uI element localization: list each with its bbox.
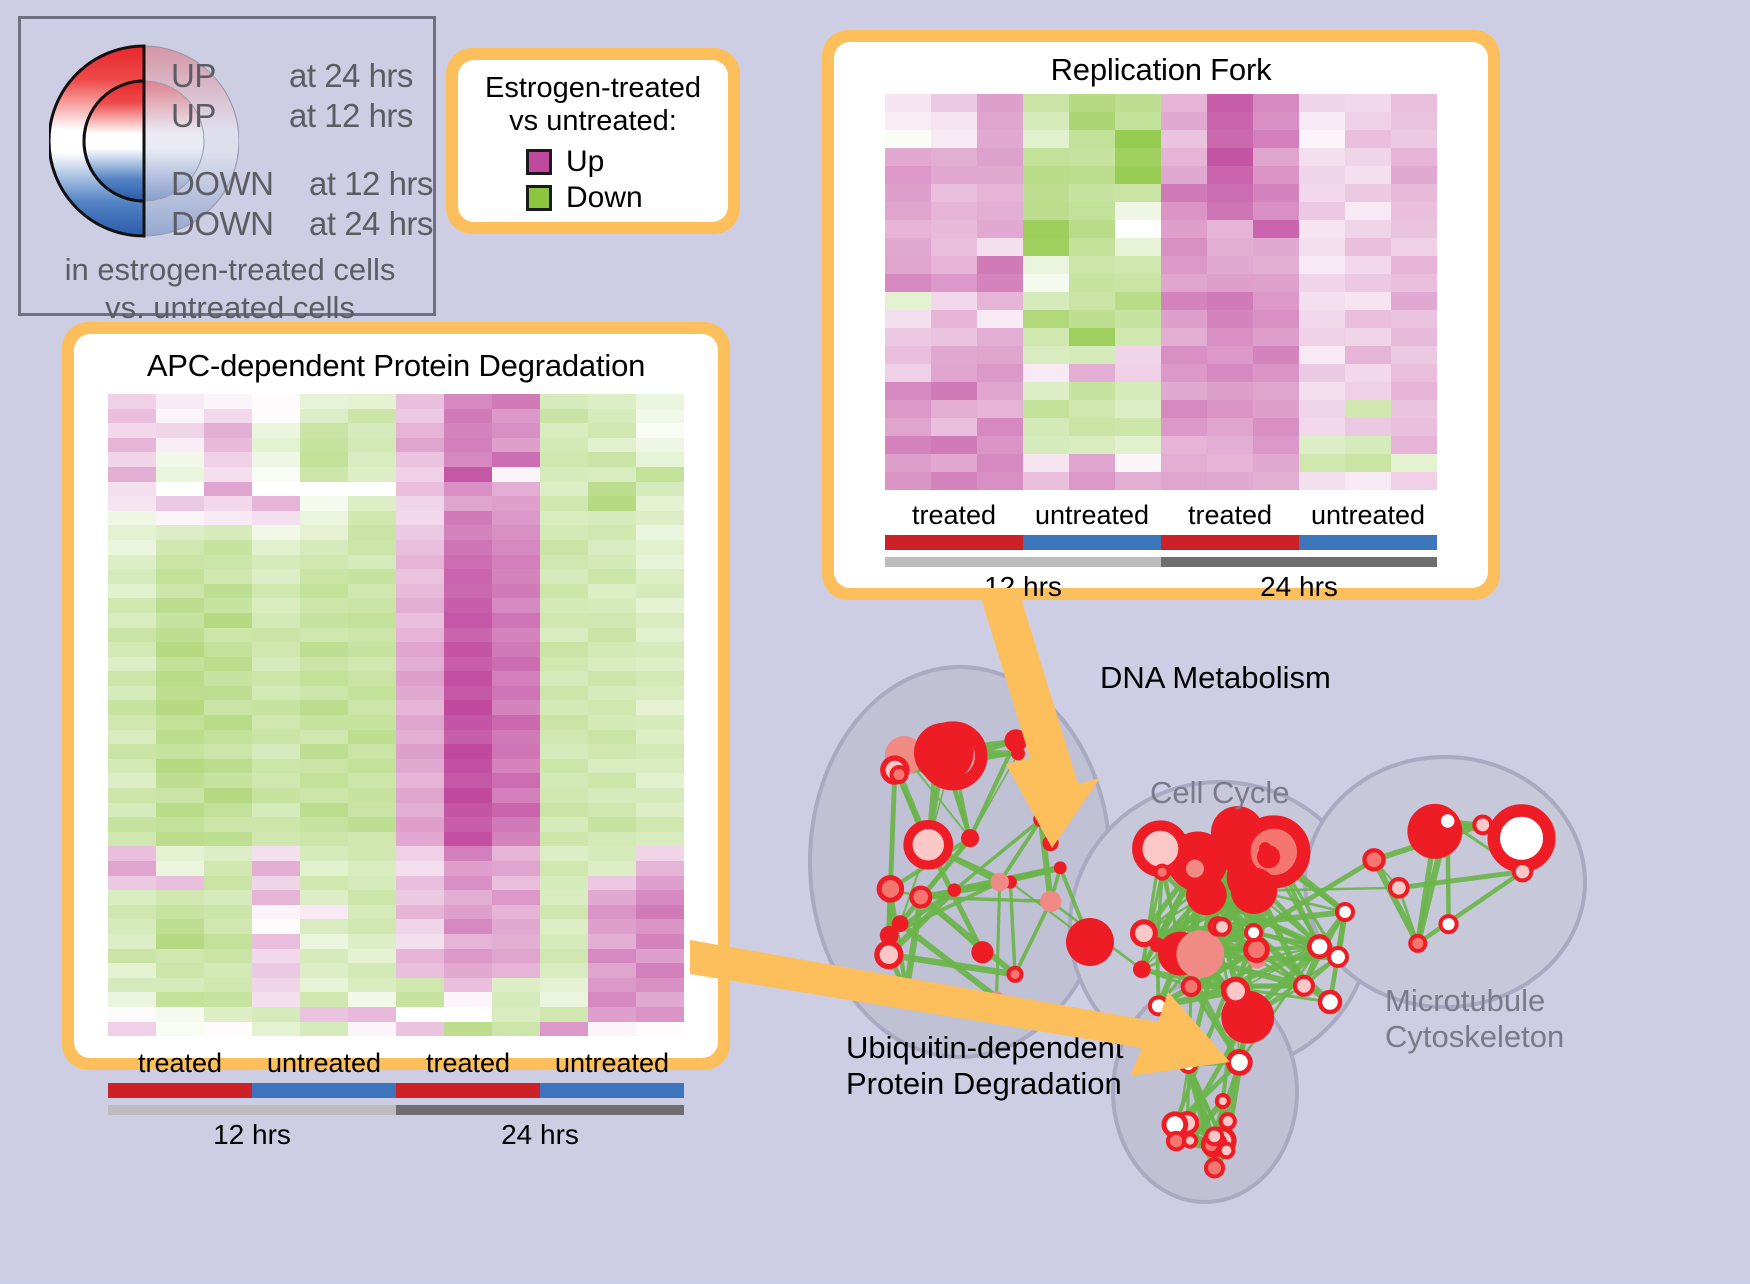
heatmap-cell	[204, 686, 252, 701]
heatmap-cell	[444, 438, 492, 453]
heatmap-cell	[492, 876, 540, 891]
heatmap-cell	[300, 496, 348, 511]
heatmap-cell	[348, 846, 396, 861]
heatmap-cell	[108, 919, 156, 934]
heatmap-cell	[300, 788, 348, 803]
heatmap-cell	[1345, 382, 1391, 400]
heatmap-cell	[204, 628, 252, 643]
heatmap-cell	[396, 628, 444, 643]
network-node[interactable]	[1320, 992, 1340, 1012]
network-node[interactable]	[1337, 904, 1353, 920]
heatmap-cell	[108, 730, 156, 745]
heatmap-cell	[588, 1022, 636, 1037]
heatmap-cell	[588, 978, 636, 993]
heatmap-cell	[156, 773, 204, 788]
heatmap-cell	[540, 978, 588, 993]
heatmap-cell	[396, 467, 444, 482]
heatmap-cell	[252, 759, 300, 774]
network-node[interactable]	[1168, 1133, 1184, 1149]
network-node[interactable]	[1410, 936, 1425, 951]
heatmap-cell	[1299, 328, 1345, 346]
heatmap-cell	[588, 846, 636, 861]
heatmap-cell	[300, 700, 348, 715]
network-node[interactable]	[1054, 861, 1067, 874]
heatmap-cell	[396, 671, 444, 686]
heatmap-cell	[588, 949, 636, 964]
heatmap-cell	[492, 686, 540, 701]
heatmap-cell	[636, 511, 684, 526]
heatmap-cell	[588, 409, 636, 424]
heatmap-cell	[444, 598, 492, 613]
heatmap-cell	[204, 817, 252, 832]
heatmap-cell	[977, 130, 1023, 148]
heatmap-cell	[1391, 328, 1437, 346]
heatmap-cell	[931, 454, 977, 472]
heatmap-cell	[348, 876, 396, 891]
heatmap-cell	[300, 861, 348, 876]
heatmap-cell	[1115, 418, 1161, 436]
network-node[interactable]	[911, 888, 930, 907]
heatmap-cell	[204, 452, 252, 467]
heatmap-cell	[444, 613, 492, 628]
heatmap-cell	[396, 525, 444, 540]
heatmap-cell	[636, 555, 684, 570]
condition-label-3: untreated	[1299, 500, 1437, 531]
network-node[interactable]	[1407, 804, 1462, 859]
heatmap-cell	[1253, 166, 1299, 184]
network-node[interactable]	[1440, 916, 1456, 932]
heatmap-cell	[156, 788, 204, 803]
heatmap-cell	[252, 934, 300, 949]
heatmap-cell	[636, 452, 684, 467]
heatmap-cell	[636, 978, 684, 993]
heatmap-cell	[444, 890, 492, 905]
heatmap-cell	[204, 569, 252, 584]
heatmap-cell	[252, 423, 300, 438]
heatmap-cell	[931, 238, 977, 256]
expression-ring-legend: UP at 24 hrs UP at 12 hrs DOWN at 12 hrs…	[18, 16, 436, 316]
heatmap-cell	[1299, 382, 1345, 400]
heatmap-cell	[156, 525, 204, 540]
heatmap-cell	[931, 130, 977, 148]
heatmap-cell	[636, 992, 684, 1007]
heatmap-cell	[1253, 220, 1299, 238]
heatmap-cell	[252, 613, 300, 628]
heatmap-cell	[1069, 256, 1115, 274]
network-node[interactable]	[948, 883, 962, 897]
heatmap-cell	[204, 642, 252, 657]
heatmap-cell	[1207, 292, 1253, 310]
heatmap-cell	[204, 1007, 252, 1022]
ring-label-up-12: UP	[171, 97, 216, 135]
heatmap-cell	[636, 715, 684, 730]
heatmap-cell	[300, 409, 348, 424]
heatmap-cell	[1023, 400, 1069, 418]
heatmap-cell	[348, 963, 396, 978]
heatmap-cell	[588, 963, 636, 978]
heatmap-cell	[1391, 130, 1437, 148]
color-legend-panel: Estrogen-treated vs untreated: Up Down	[446, 48, 740, 234]
heatmap-cell	[1207, 202, 1253, 220]
heatmap-cell	[492, 978, 540, 993]
heatmap-cell	[1299, 256, 1345, 274]
heatmap-cell	[492, 525, 540, 540]
heatmap-cell	[1115, 130, 1161, 148]
network-node[interactable]	[879, 878, 902, 901]
heatmap-cell	[885, 202, 931, 220]
heatmap-cell	[588, 934, 636, 949]
heatmap-cell	[1345, 274, 1391, 292]
heatmap-cell	[1299, 112, 1345, 130]
heatmap-cell	[1069, 112, 1115, 130]
heatmap-cell	[1253, 94, 1299, 112]
heatmap-cell	[1161, 274, 1207, 292]
heatmap-cell	[885, 148, 931, 166]
heatmap-cell	[636, 671, 684, 686]
network-node[interactable]	[990, 873, 1009, 892]
heatmap-cell	[108, 992, 156, 1007]
heatmap-cell	[540, 744, 588, 759]
heatmap-cell	[1023, 310, 1069, 328]
heatmap-cell	[636, 409, 684, 424]
heatmap-cell	[1161, 436, 1207, 454]
condition-label-2: treated	[1161, 500, 1299, 531]
heatmap-cell	[588, 876, 636, 891]
heatmap-cell	[108, 452, 156, 467]
heatmap-cell	[252, 963, 300, 978]
heatmap-cell	[636, 759, 684, 774]
heatmap-cell	[156, 540, 204, 555]
heatmap-cell	[300, 540, 348, 555]
heatmap-cell	[492, 949, 540, 964]
heatmap-cell	[252, 744, 300, 759]
heatmap-cell	[636, 628, 684, 643]
heatmap-cell	[156, 671, 204, 686]
heatmap-cell	[540, 934, 588, 949]
network-node[interactable]	[1206, 893, 1219, 906]
heatmap-cell	[444, 467, 492, 482]
heatmap-cell	[492, 1007, 540, 1022]
network-node[interactable]	[1295, 977, 1313, 995]
heatmap-cell	[636, 496, 684, 511]
network-node[interactable]	[1390, 879, 1408, 897]
heatmap-cell	[204, 555, 252, 570]
heatmap-cell	[588, 890, 636, 905]
heatmap-cell	[1253, 184, 1299, 202]
heatmap-cell	[1345, 202, 1391, 220]
heatmap-cell	[1023, 112, 1069, 130]
network-node[interactable]	[1220, 1144, 1234, 1158]
heatmap-cell	[156, 890, 204, 905]
heatmap-cell	[588, 861, 636, 876]
heatmap-cell	[348, 657, 396, 672]
heatmap-cell	[1345, 418, 1391, 436]
heatmap-cell	[444, 584, 492, 599]
heatmap-cell	[1253, 310, 1299, 328]
heatmap-cell	[1161, 112, 1207, 130]
legend-items: Up Down	[458, 144, 728, 216]
heatmap-cell	[300, 467, 348, 482]
heatmap-cell	[1023, 346, 1069, 364]
heatmap-cell	[444, 788, 492, 803]
heatmap-cell	[444, 525, 492, 540]
heatmap-cell	[540, 584, 588, 599]
network-node[interactable]	[1206, 1128, 1222, 1144]
heatmap-cell	[1253, 238, 1299, 256]
heatmap-cell	[492, 613, 540, 628]
heatmap-cell	[108, 496, 156, 511]
network-node[interactable]	[1156, 866, 1169, 879]
heatmap-cell	[300, 846, 348, 861]
heatmap-cell	[931, 112, 977, 130]
network-node[interactable]	[1439, 812, 1457, 830]
heatmap-cell	[300, 744, 348, 759]
heatmap-cell	[492, 934, 540, 949]
heatmap-cell	[636, 569, 684, 584]
heatmap-cell	[1023, 472, 1069, 490]
heatmap-cell	[1023, 274, 1069, 292]
heatmap-cell	[636, 657, 684, 672]
heatmap-cell	[1115, 94, 1161, 112]
heatmap-cell	[156, 700, 204, 715]
heatmap-cell	[108, 773, 156, 788]
heatmap-cell	[977, 346, 1023, 364]
heatmap-cell	[156, 876, 204, 891]
heatmap-cell	[348, 628, 396, 643]
network-node[interactable]	[1514, 863, 1531, 880]
heatmap-cell	[1299, 436, 1345, 454]
heatmap-cell	[977, 436, 1023, 454]
heatmap-cell	[204, 759, 252, 774]
network-node[interactable]	[1184, 1134, 1196, 1146]
heatmap-cell	[1391, 112, 1437, 130]
heatmap-cell	[931, 166, 977, 184]
cluster-label-cell-cycle: Cell Cycle	[1150, 775, 1290, 811]
replication-fork-heatmap	[885, 94, 1437, 490]
heatmap-cell	[636, 803, 684, 818]
heatmap-cell	[1391, 256, 1437, 274]
heatmap-cell	[931, 148, 977, 166]
heatmap-cell	[492, 773, 540, 788]
heatmap-cell	[300, 934, 348, 949]
heatmap-cell	[588, 555, 636, 570]
heatmap-cell	[492, 817, 540, 832]
network-node[interactable]	[1186, 860, 1204, 878]
heatmap-cell	[300, 773, 348, 788]
heatmap-cell	[1161, 328, 1207, 346]
network-node[interactable]	[1231, 868, 1277, 914]
heatmap-cell	[156, 992, 204, 1007]
heatmap-cell	[204, 438, 252, 453]
heatmap-cell	[1115, 400, 1161, 418]
heatmap-cell	[300, 394, 348, 409]
heatmap-cell	[1299, 220, 1345, 238]
heatmap-cell	[540, 817, 588, 832]
apc-degradation-panel: APC-dependent Protein Degradation treate…	[62, 322, 730, 1070]
ring-label-down-12: DOWN	[171, 165, 273, 203]
network-node[interactable]	[1364, 850, 1383, 869]
heatmap-cell	[1023, 292, 1069, 310]
heatmap-cell	[1115, 274, 1161, 292]
heatmap-cell	[588, 438, 636, 453]
timepoint-labels: 12 hrs 24 hrs	[108, 1119, 684, 1151]
heatmap-cell	[108, 803, 156, 818]
heatmap-cell	[540, 1007, 588, 1022]
heatmap-cell	[204, 905, 252, 920]
heatmap-cell	[492, 919, 540, 934]
heatmap-cell	[1391, 310, 1437, 328]
heatmap-cell	[348, 759, 396, 774]
network-node[interactable]	[1309, 936, 1329, 956]
heatmap-cell	[588, 657, 636, 672]
network-node[interactable]	[1257, 845, 1280, 868]
heatmap-cell	[1115, 472, 1161, 490]
network-node[interactable]	[1329, 948, 1347, 966]
heatmap-cell	[492, 423, 540, 438]
heatmap-cell	[492, 1022, 540, 1037]
heatmap-cell	[444, 817, 492, 832]
heatmap-cell	[931, 418, 977, 436]
heatmap-cell	[396, 555, 444, 570]
heatmap-cell	[396, 905, 444, 920]
network-node[interactable]	[931, 731, 944, 744]
heatmap-cell	[396, 949, 444, 964]
heatmap-cell	[348, 817, 396, 832]
heatmap-cell	[300, 890, 348, 905]
heatmap-cell	[1207, 112, 1253, 130]
heatmap-cell	[396, 584, 444, 599]
heatmap-cell	[252, 496, 300, 511]
heatmap-cell	[977, 238, 1023, 256]
network-node[interactable]	[1217, 1095, 1229, 1107]
heatmap-cell	[396, 642, 444, 657]
heatmap-cell	[252, 905, 300, 920]
heatmap-cell	[348, 1022, 396, 1037]
heatmap-cell	[396, 1022, 444, 1037]
heatmap-cell	[252, 452, 300, 467]
network-node[interactable]	[892, 767, 907, 782]
heatmap-cell	[348, 496, 396, 511]
heatmap-cell	[204, 978, 252, 993]
heatmap-cell	[636, 584, 684, 599]
heatmap-cell	[977, 292, 1023, 310]
heatmap-cell	[1069, 292, 1115, 310]
heatmap-cell	[252, 773, 300, 788]
heatmap-cell	[931, 202, 977, 220]
heatmap-cell	[588, 803, 636, 818]
network-node[interactable]	[1221, 1114, 1235, 1128]
heatmap-cell	[348, 467, 396, 482]
network-node[interactable]	[1186, 875, 1227, 916]
heatmap-cell	[108, 1022, 156, 1037]
heatmap-cell	[444, 832, 492, 847]
heatmap-cell	[108, 715, 156, 730]
heatmap-cell	[1345, 238, 1391, 256]
heatmap-cell	[444, 540, 492, 555]
heatmap-cell	[636, 934, 684, 949]
heatmap-cell	[396, 817, 444, 832]
time-label-24: 24 hrs	[1161, 571, 1437, 603]
heatmap-cell	[396, 598, 444, 613]
heatmap-cell	[252, 919, 300, 934]
heatmap-cell	[1023, 148, 1069, 166]
heatmap-cell	[300, 832, 348, 847]
heatmap-cell	[252, 817, 300, 832]
heatmap-cell	[156, 569, 204, 584]
network-node[interactable]	[908, 825, 948, 865]
heatmap-cell	[1345, 400, 1391, 418]
heatmap-cell	[540, 613, 588, 628]
heatmap-cell	[1161, 472, 1207, 490]
heatmap-cell	[108, 759, 156, 774]
heatmap-cell	[977, 310, 1023, 328]
heatmap-cell	[540, 963, 588, 978]
heatmap-cell	[156, 496, 204, 511]
heatmap-cell	[252, 1007, 300, 1022]
heatmap-cell	[1299, 292, 1345, 310]
heatmap-cell	[444, 423, 492, 438]
network-node[interactable]	[1224, 855, 1241, 872]
heatmap-cell	[108, 861, 156, 876]
heatmap-cell	[1023, 364, 1069, 382]
heatmap-cell	[348, 671, 396, 686]
heatmap-cell	[540, 715, 588, 730]
heatmap-cell	[636, 1022, 684, 1037]
heatmap-cell	[636, 642, 684, 657]
heatmap-cell	[885, 310, 931, 328]
heatmap-cell	[108, 482, 156, 497]
condition-label-2: treated	[396, 1048, 540, 1079]
heatmap-cell	[204, 496, 252, 511]
heatmap-cell	[1207, 364, 1253, 382]
heatmap-cell	[1069, 130, 1115, 148]
cluster-label-dna-metabolism: DNA Metabolism	[1100, 660, 1331, 696]
heatmap-cell	[1207, 400, 1253, 418]
heatmap-cell	[204, 803, 252, 818]
heatmap-cell	[1023, 184, 1069, 202]
heatmap-cell	[300, 949, 348, 964]
heatmap-cell	[204, 963, 252, 978]
network-node[interactable]	[1206, 1159, 1223, 1176]
heatmap-cell	[540, 919, 588, 934]
heatmap-cell	[348, 642, 396, 657]
heatmap-cell	[1161, 346, 1207, 364]
heatmap-cell	[1023, 220, 1069, 238]
heatmap-cell	[1253, 472, 1299, 490]
heatmap-cell	[396, 482, 444, 497]
heatmap-cell	[252, 642, 300, 657]
heatmap-cell	[1023, 418, 1069, 436]
heatmap-cell	[156, 919, 204, 934]
heatmap-cell	[204, 540, 252, 555]
heatmap-cell	[1299, 454, 1345, 472]
heatmap-cell	[108, 438, 156, 453]
network-node[interactable]	[1040, 891, 1061, 912]
heatmap-cell	[156, 846, 204, 861]
heatmap-cell	[588, 452, 636, 467]
heatmap-cell	[931, 220, 977, 238]
heatmap-cell	[977, 454, 1023, 472]
heatmap-cell	[252, 846, 300, 861]
heatmap-cell	[444, 700, 492, 715]
heatmap-cell	[1069, 436, 1115, 454]
network-node[interactable]	[1494, 810, 1550, 866]
heatmap-cell	[636, 482, 684, 497]
heatmap-cell	[444, 657, 492, 672]
heatmap-cell	[636, 730, 684, 745]
heatmap-cell	[348, 773, 396, 788]
heatmap-cell	[204, 613, 252, 628]
